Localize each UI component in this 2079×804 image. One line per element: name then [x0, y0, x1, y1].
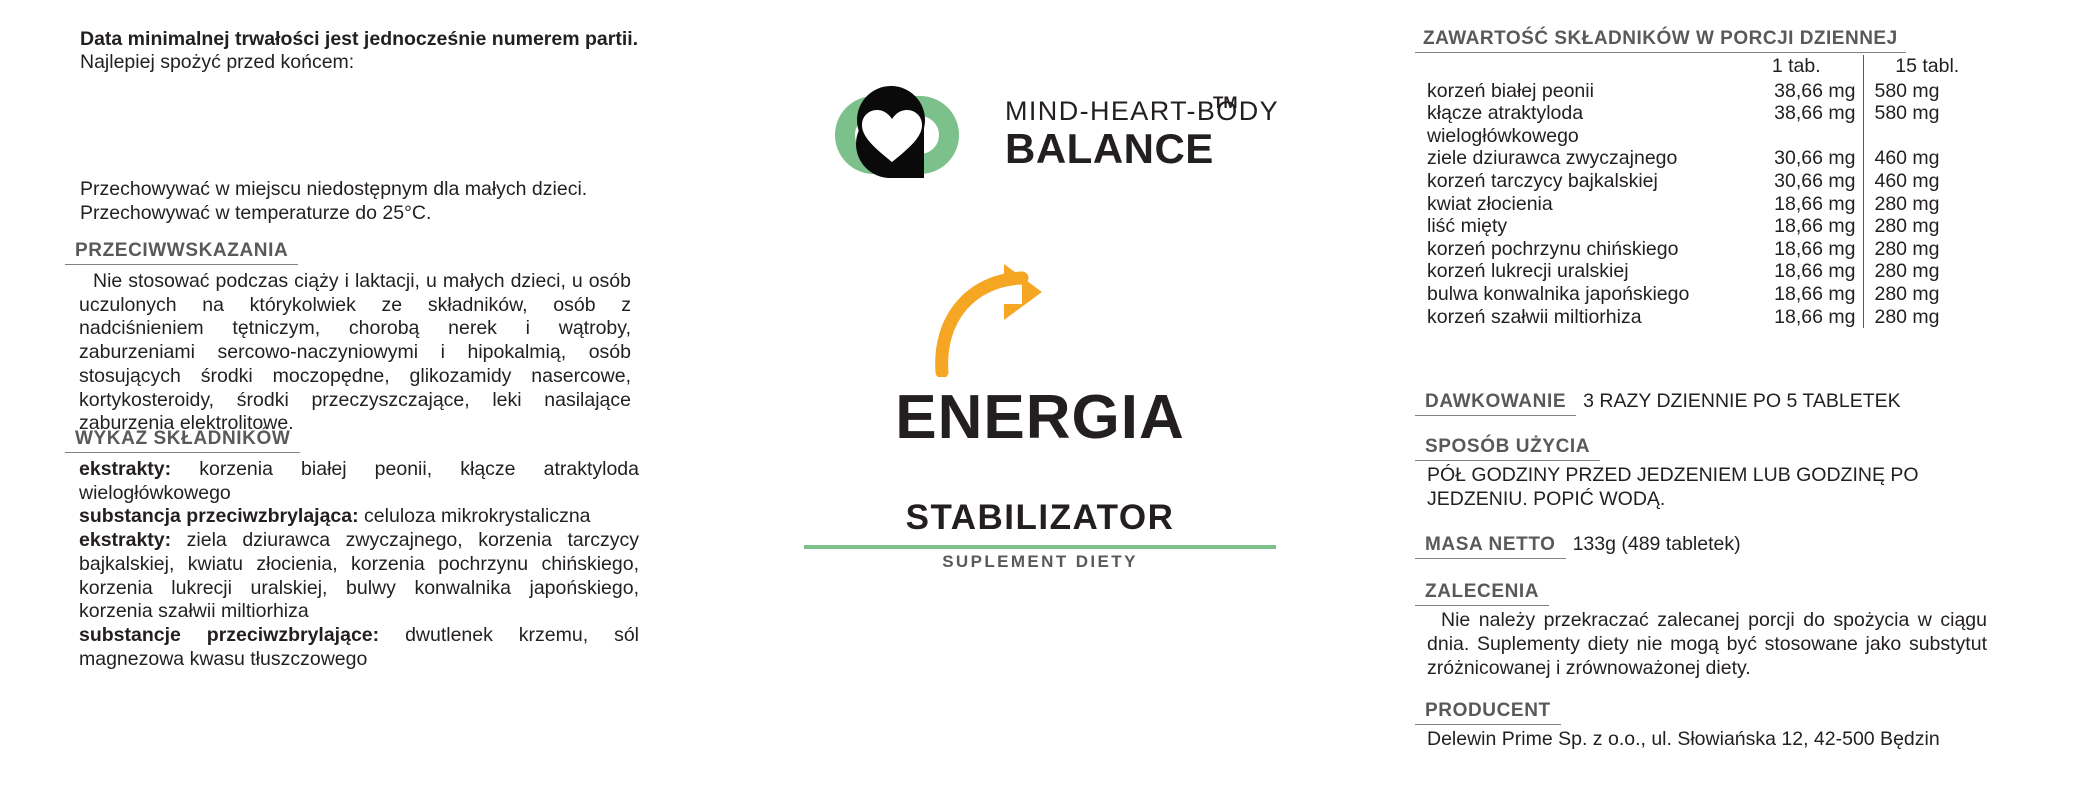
brand-name: BALANCE	[1005, 127, 1265, 171]
recommendations-section: ZALECENIA Nie należy przekraczać zalecan…	[1415, 581, 2015, 680]
producer-heading: PRODUCENT	[1415, 700, 1561, 725]
ingredient-label: substancja przeciwzbrylająca:	[79, 505, 359, 527]
cell-one-tablet: 18,66 mg	[1737, 193, 1864, 216]
cell-fifteen-tablets: 280 mg	[1864, 283, 1980, 306]
ingredient-line: substancja przeciwzbrylająca: celuloza m…	[79, 505, 639, 529]
supplement-label: Data minimalnej trwałości jest jednocześ…	[0, 0, 2079, 804]
netto-value: 133g (489 tabletek)	[1573, 533, 1741, 555]
product-subtitle: STABILIZATOR	[790, 498, 1290, 538]
cell-one-tablet: 18,66 mg	[1737, 306, 1864, 329]
table-row: korzeń białej peonii38,66 mg580 mg	[1415, 80, 1980, 103]
cell-fifteen-tablets: 580 mg	[1864, 102, 1980, 125]
table-row: kłącze atraktyloda38,66 mg580 mg	[1415, 102, 1980, 125]
cell-fifteen-tablets: 460 mg	[1864, 147, 1980, 170]
cell-ingredient-name: korzeń tarczycy bajkalskiej	[1415, 170, 1737, 193]
table-row: korzeń szałwii miltiorhiza18,66 mg280 mg	[1415, 306, 1980, 329]
center-column: MIND-HEART-BODY BALANCE TM ENERGIA STABI…	[790, 0, 1290, 804]
table-row: korzeń tarczycy bajkalskiej30,66 mg460 m…	[1415, 170, 1980, 193]
table-row: bulwa konwalnika japońskiego18,66 mg280 …	[1415, 283, 1980, 306]
green-divider	[804, 545, 1276, 549]
dosage-value: 3 RAZY DZIENNIE PO 5 TABLETEK	[1583, 390, 1901, 412]
usage-body: PÓŁ GODZINY PRZED JEDZENIEM LUB GODZINĘ …	[1415, 464, 1987, 511]
ingredients-heading: WYKAZ SKŁADNIKÓW	[65, 428, 300, 453]
netto-section: MASA NETTO133g (489 tabletek)	[1415, 533, 2015, 559]
cell-fifteen-tablets-empty	[1864, 125, 1980, 148]
cell-fifteen-tablets: 280 mg	[1864, 215, 1980, 238]
expiry-note-bold: Data minimalnej trwałości jest jednocześ…	[80, 28, 638, 50]
cell-ingredient-name: korzeń szałwii miltiorhiza	[1415, 306, 1737, 329]
curved-arrow-icon	[930, 262, 1120, 377]
left-column: Data minimalnej trwałości jest jednocześ…	[80, 28, 680, 74]
cell-one-tablet-empty	[1737, 125, 1864, 148]
cell-ingredient-name: korzeń lukrecji uralskiej	[1415, 260, 1737, 283]
producer-section: PRODUCENT Delewin Prime Sp. z o.o., ul. …	[1415, 700, 2015, 752]
balance-rings-logo-icon	[830, 80, 990, 185]
table-row-continuation: wielogłówkowego	[1415, 125, 1980, 148]
nutrition-table-section: ZAWARTOŚĆ SKŁADNIKÓW W PORCJI DZIENNEJ 1…	[1415, 28, 2015, 328]
netto-heading: MASA NETTO	[1415, 534, 1566, 559]
product-name: ENERGIA	[790, 382, 1290, 453]
col-header-name	[1415, 55, 1737, 80]
recommendations-body: Nie należy przekraczać zalecanej porcji …	[1415, 609, 1987, 680]
expiry-note: Data minimalnej trwałości jest jednocześ…	[80, 28, 640, 74]
right-column: ZAWARTOŚĆ SKŁADNIKÓW W PORCJI DZIENNEJ 1…	[1415, 28, 2015, 752]
table-row: kwiat złocienia18,66 mg280 mg	[1415, 193, 1980, 216]
table-row: korzeń lukrecji uralskiej18,66 mg280 mg	[1415, 260, 1980, 283]
storage-line-2: Przechowywać w temperaturze do 25°C.	[80, 202, 660, 226]
cell-one-tablet: 38,66 mg	[1737, 80, 1864, 103]
table-row: ziele dziurawca zwyczajnego30,66 mg460 m…	[1415, 147, 1980, 170]
cell-ingredient-name: kłącze atraktyloda	[1415, 102, 1737, 125]
storage-line-1: Przechowywać w miejscu niedostępnym dla …	[80, 178, 660, 202]
dosage-heading: DAWKOWANIE	[1415, 391, 1576, 416]
ingredient-label: ekstrakty:	[79, 458, 171, 480]
ingredient-line: ekstrakty: ziela dziurawca zwyczajnego, …	[79, 529, 639, 624]
cell-one-tablet: 18,66 mg	[1737, 283, 1864, 306]
cell-ingredient-name: ziele dziurawca zwyczajnego	[1415, 147, 1737, 170]
nutrition-table-heading: ZAWARTOŚĆ SKŁADNIKÓW W PORCJI DZIENNEJ	[1415, 28, 1906, 53]
cell-fifteen-tablets: 580 mg	[1864, 80, 1980, 103]
expiry-note-rest: Najlepiej spożyć przed końcem:	[80, 51, 354, 73]
brand-logo: MIND-HEART-BODY BALANCE TM	[830, 80, 1260, 190]
ingredient-line: substancje przeciwzbrylające: dwutlenek …	[79, 624, 639, 671]
usage-heading: SPOSÓB UŻYCIA	[1415, 436, 1600, 461]
ingredients-body: ekstrakty: korzenia białej peonii, kłącz…	[65, 458, 639, 671]
cell-ingredient-name-continued: wielogłówkowego	[1415, 125, 1737, 148]
supplement-caption: SUPLEMENT DIETY	[790, 552, 1290, 572]
cell-fifteen-tablets: 460 mg	[1864, 170, 1980, 193]
ingredient-text: celuloza mikrokrystaliczna	[359, 505, 591, 527]
cell-ingredient-name: bulwa konwalnika japońskiego	[1415, 283, 1737, 306]
cell-one-tablet: 30,66 mg	[1737, 170, 1864, 193]
cell-one-tablet: 38,66 mg	[1737, 102, 1864, 125]
ingredient-label: ekstrakty:	[79, 529, 171, 551]
col-header-one-tab: 1 tab.	[1737, 55, 1864, 80]
cell-fifteen-tablets: 280 mg	[1864, 193, 1980, 216]
usage-section: SPOSÓB UŻYCIA PÓŁ GODZINY PRZED JEDZENIE…	[1415, 436, 2015, 511]
nutrition-table: 1 tab. 15 tabl. korzeń białej peonii38,6…	[1415, 55, 1980, 328]
cell-ingredient-name: korzeń pochrzynu chińskiego	[1415, 238, 1737, 261]
col-header-fifteen-tab: 15 tabl.	[1864, 55, 1980, 80]
cell-ingredient-name: liść mięty	[1415, 215, 1737, 238]
storage-instructions: Przechowywać w miejscu niedostępnym dla …	[80, 178, 660, 225]
cell-fifteen-tablets: 280 mg	[1864, 306, 1980, 329]
cell-ingredient-name: kwiat złocienia	[1415, 193, 1737, 216]
ingredients-section: WYKAZ SKŁADNIKÓW ekstrakty: korzenia bia…	[65, 428, 645, 671]
table-header-row: 1 tab. 15 tabl.	[1415, 55, 1980, 80]
table-row: liść mięty18,66 mg280 mg	[1415, 215, 1980, 238]
recommendations-heading: ZALECENIA	[1415, 581, 1549, 606]
cell-one-tablet: 18,66 mg	[1737, 215, 1864, 238]
table-row: korzeń pochrzynu chińskiego18,66 mg280 m…	[1415, 238, 1980, 261]
cell-fifteen-tablets: 280 mg	[1864, 260, 1980, 283]
contraindications-body: Nie stosować podczas ciąży i laktacji, u…	[65, 270, 631, 436]
contraindications-heading: PRZECIWWSKAZANIA	[65, 240, 298, 265]
producer-body: Delewin Prime Sp. z o.o., ul. Słowiańska…	[1415, 728, 2015, 752]
cell-one-tablet: 18,66 mg	[1737, 260, 1864, 283]
dosage-section: DAWKOWANIE3 RAZY DZIENNIE PO 5 TABLETEK	[1415, 390, 2015, 416]
trademark-symbol: TM	[1213, 93, 1238, 113]
cell-ingredient-name: korzeń białej peonii	[1415, 80, 1737, 103]
contraindications-section: PRZECIWWSKAZANIA Nie stosować podczas ci…	[65, 240, 635, 436]
ingredient-line: ekstrakty: korzenia białej peonii, kłącz…	[79, 458, 639, 505]
ingredient-label: substancje przeciwzbrylające:	[79, 624, 379, 646]
cell-one-tablet: 30,66 mg	[1737, 147, 1864, 170]
cell-fifteen-tablets: 280 mg	[1864, 238, 1980, 261]
cell-one-tablet: 18,66 mg	[1737, 238, 1864, 261]
